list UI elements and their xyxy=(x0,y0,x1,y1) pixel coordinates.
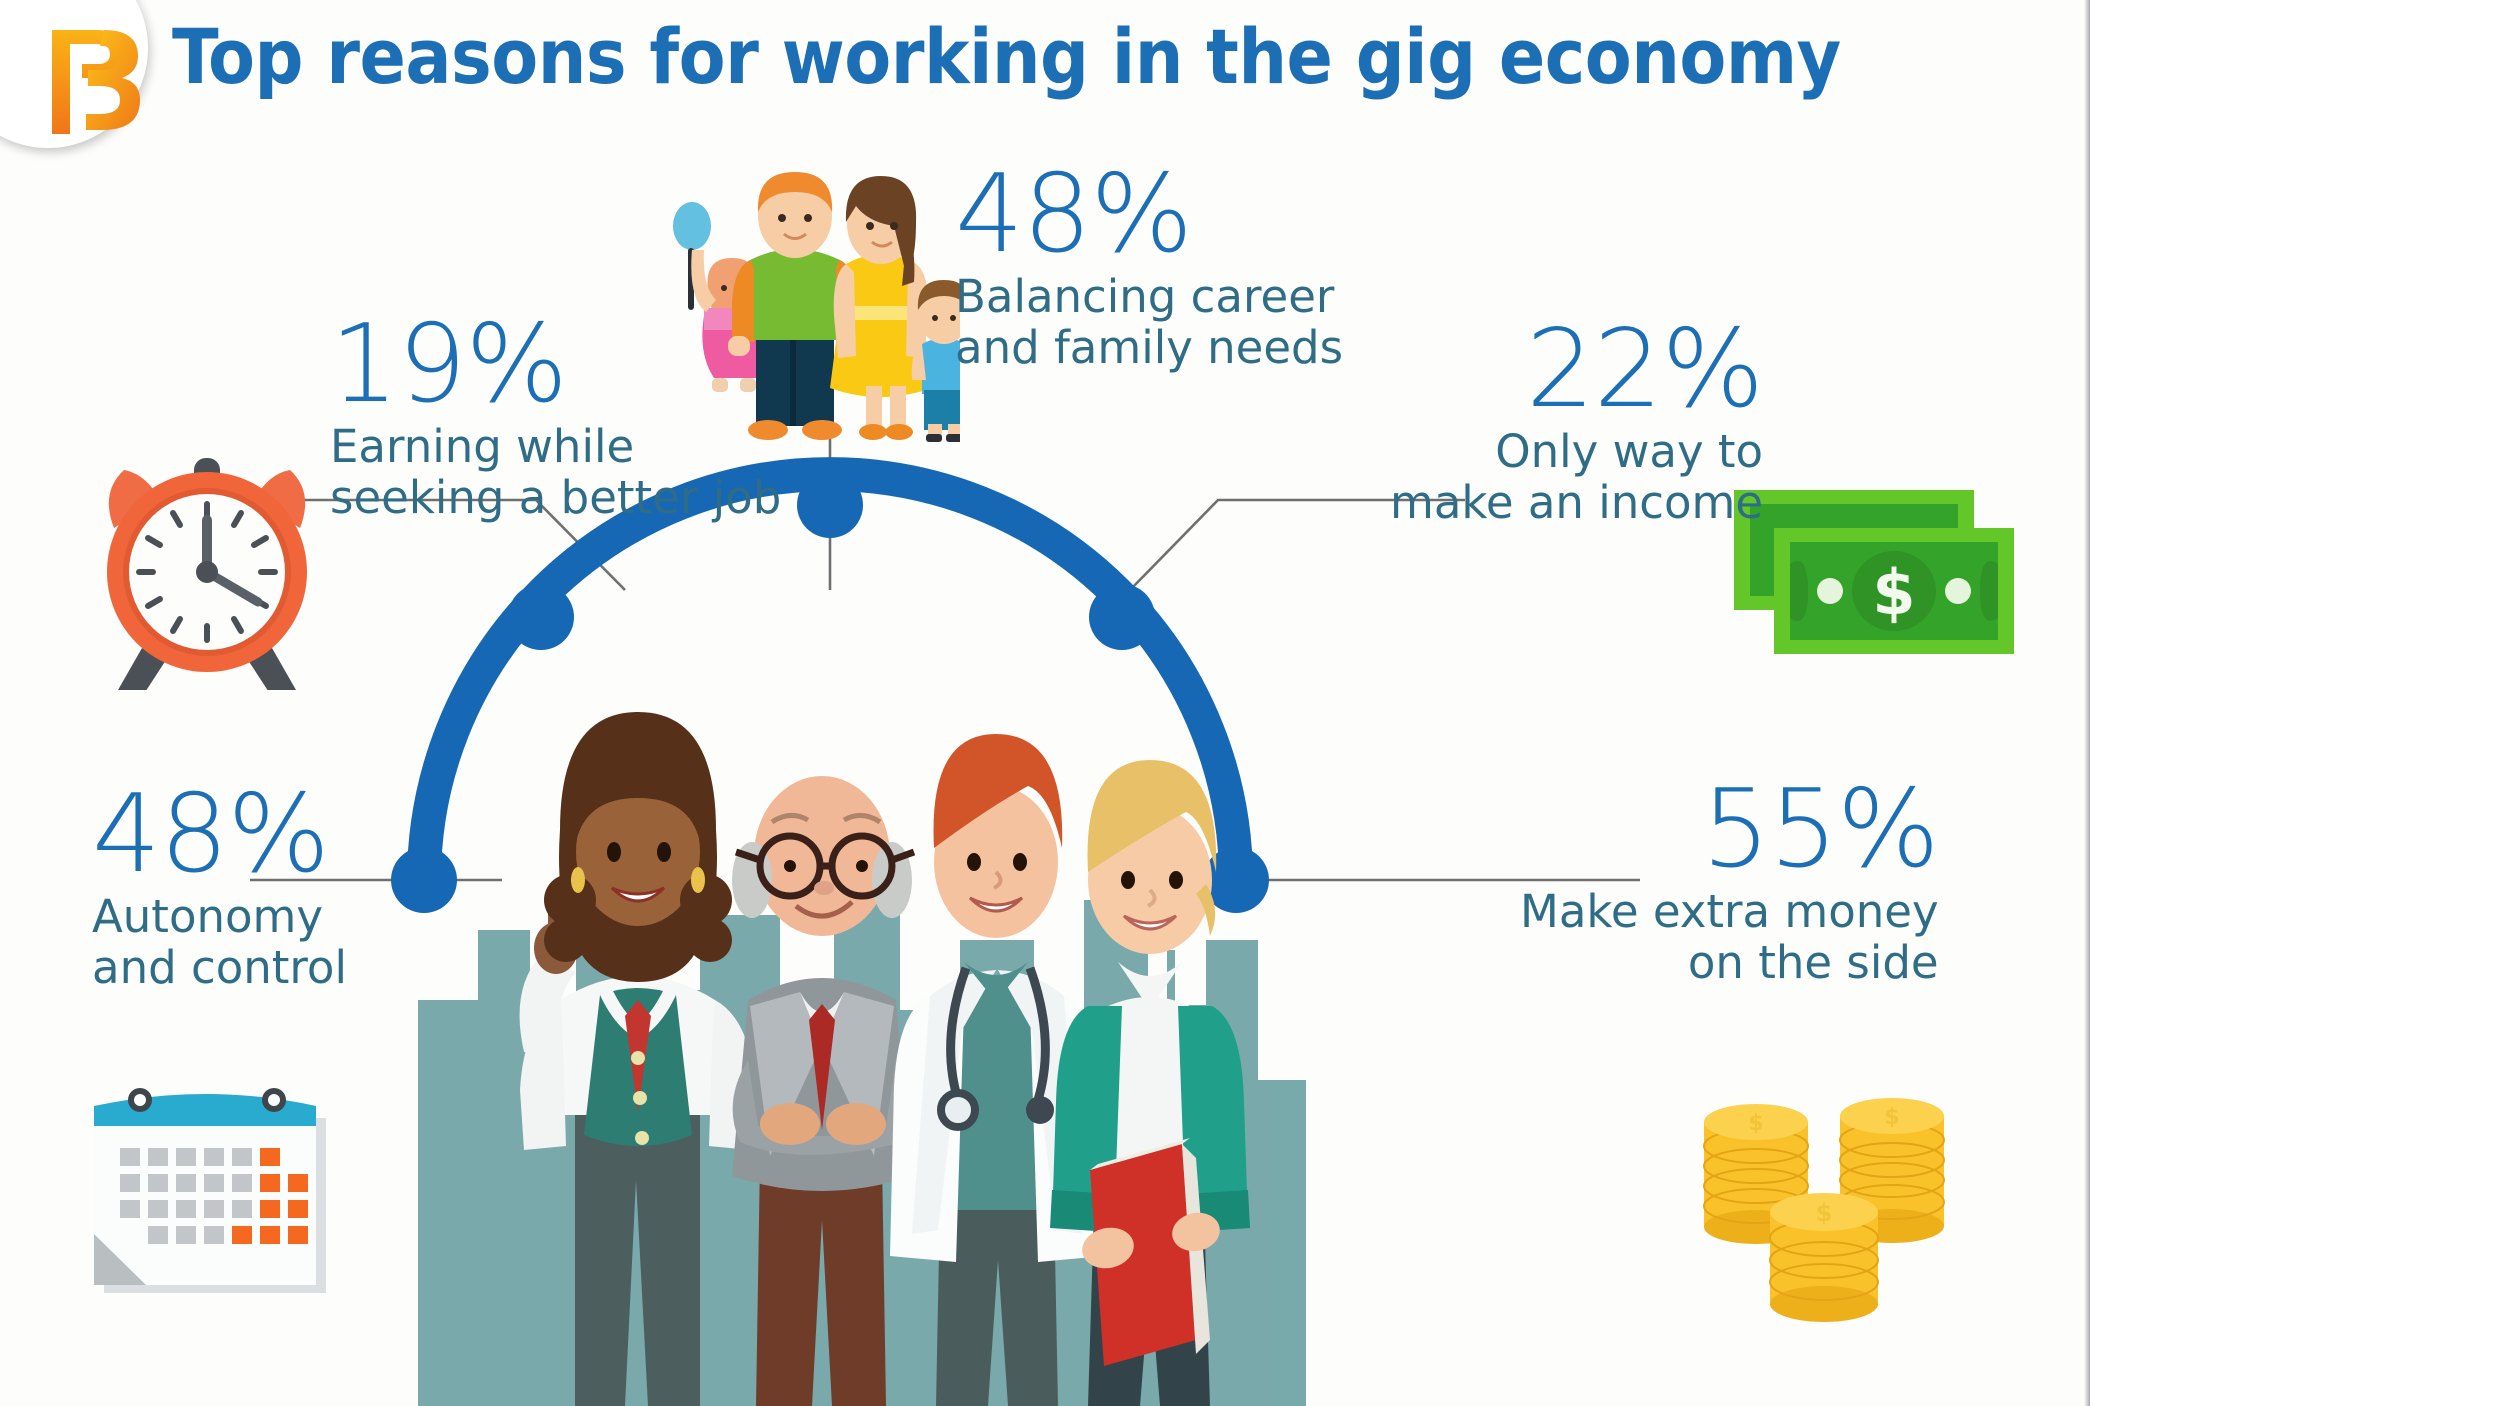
arc-node-balance xyxy=(797,472,863,538)
arc-path xyxy=(424,474,1236,880)
stat-percent: 22% xyxy=(1390,315,1763,425)
stat-label: Earning while seeking a better job xyxy=(330,422,781,523)
city-skyline-silhouette xyxy=(418,800,1306,1406)
dollar-bills-icon: $ xyxy=(1730,478,2050,672)
stat-label: Autonomy and control xyxy=(92,892,347,993)
arc-node-earning xyxy=(508,584,574,650)
stat-percent: 55% xyxy=(1520,775,1939,885)
figure-doctor xyxy=(890,734,1119,1406)
stat-autonomy-control: 48% Autonomy and control xyxy=(92,780,347,993)
arc-nodes xyxy=(391,472,1269,913)
stat-percent: 48% xyxy=(955,160,1343,270)
alarm-clock-icon xyxy=(72,440,342,694)
gold-coins-icon: $ $ xyxy=(1690,1080,1960,1334)
figure-senior-man xyxy=(732,776,914,1406)
stat-earning-while-seeking: 19% Earning while seeking a better job xyxy=(330,310,781,523)
svg-text:$: $ xyxy=(1748,1111,1763,1136)
stat-label: Make extra money on the side xyxy=(1520,887,1939,988)
figure-businesswoman xyxy=(520,712,755,1406)
stat-label: Balancing career and family needs xyxy=(955,272,1343,373)
stat-balancing-career-family: 48% Balancing career and family needs xyxy=(955,160,1343,373)
svg-text:$: $ xyxy=(1872,556,1915,629)
red-book xyxy=(1090,1138,1210,1366)
svg-text:$: $ xyxy=(1884,1105,1899,1130)
svg-text:$: $ xyxy=(1816,1199,1833,1227)
stat-make-extra-money: 55% Make extra money on the side xyxy=(1520,775,1939,988)
stat-label: Only way to make an income xyxy=(1390,427,1763,528)
figure-student xyxy=(1050,760,1250,1406)
stat-only-way-income: 22% Only way to make an income xyxy=(1390,315,1763,528)
arc-node-income xyxy=(1089,584,1155,650)
stat-percent: 48% xyxy=(92,780,347,890)
arc-node-autonomy xyxy=(391,847,457,913)
arc-node-extra xyxy=(1203,847,1269,913)
infographic-page: $ $ xyxy=(0,0,2500,1406)
bp-circle-logo[interactable] xyxy=(0,0,148,148)
calendar-icon xyxy=(88,1078,348,1312)
stat-percent: 19% xyxy=(330,310,781,420)
page-title: Top reasons for working in the gig econo… xyxy=(172,12,1841,101)
infographic-canvas: $ $ xyxy=(0,0,2090,1406)
